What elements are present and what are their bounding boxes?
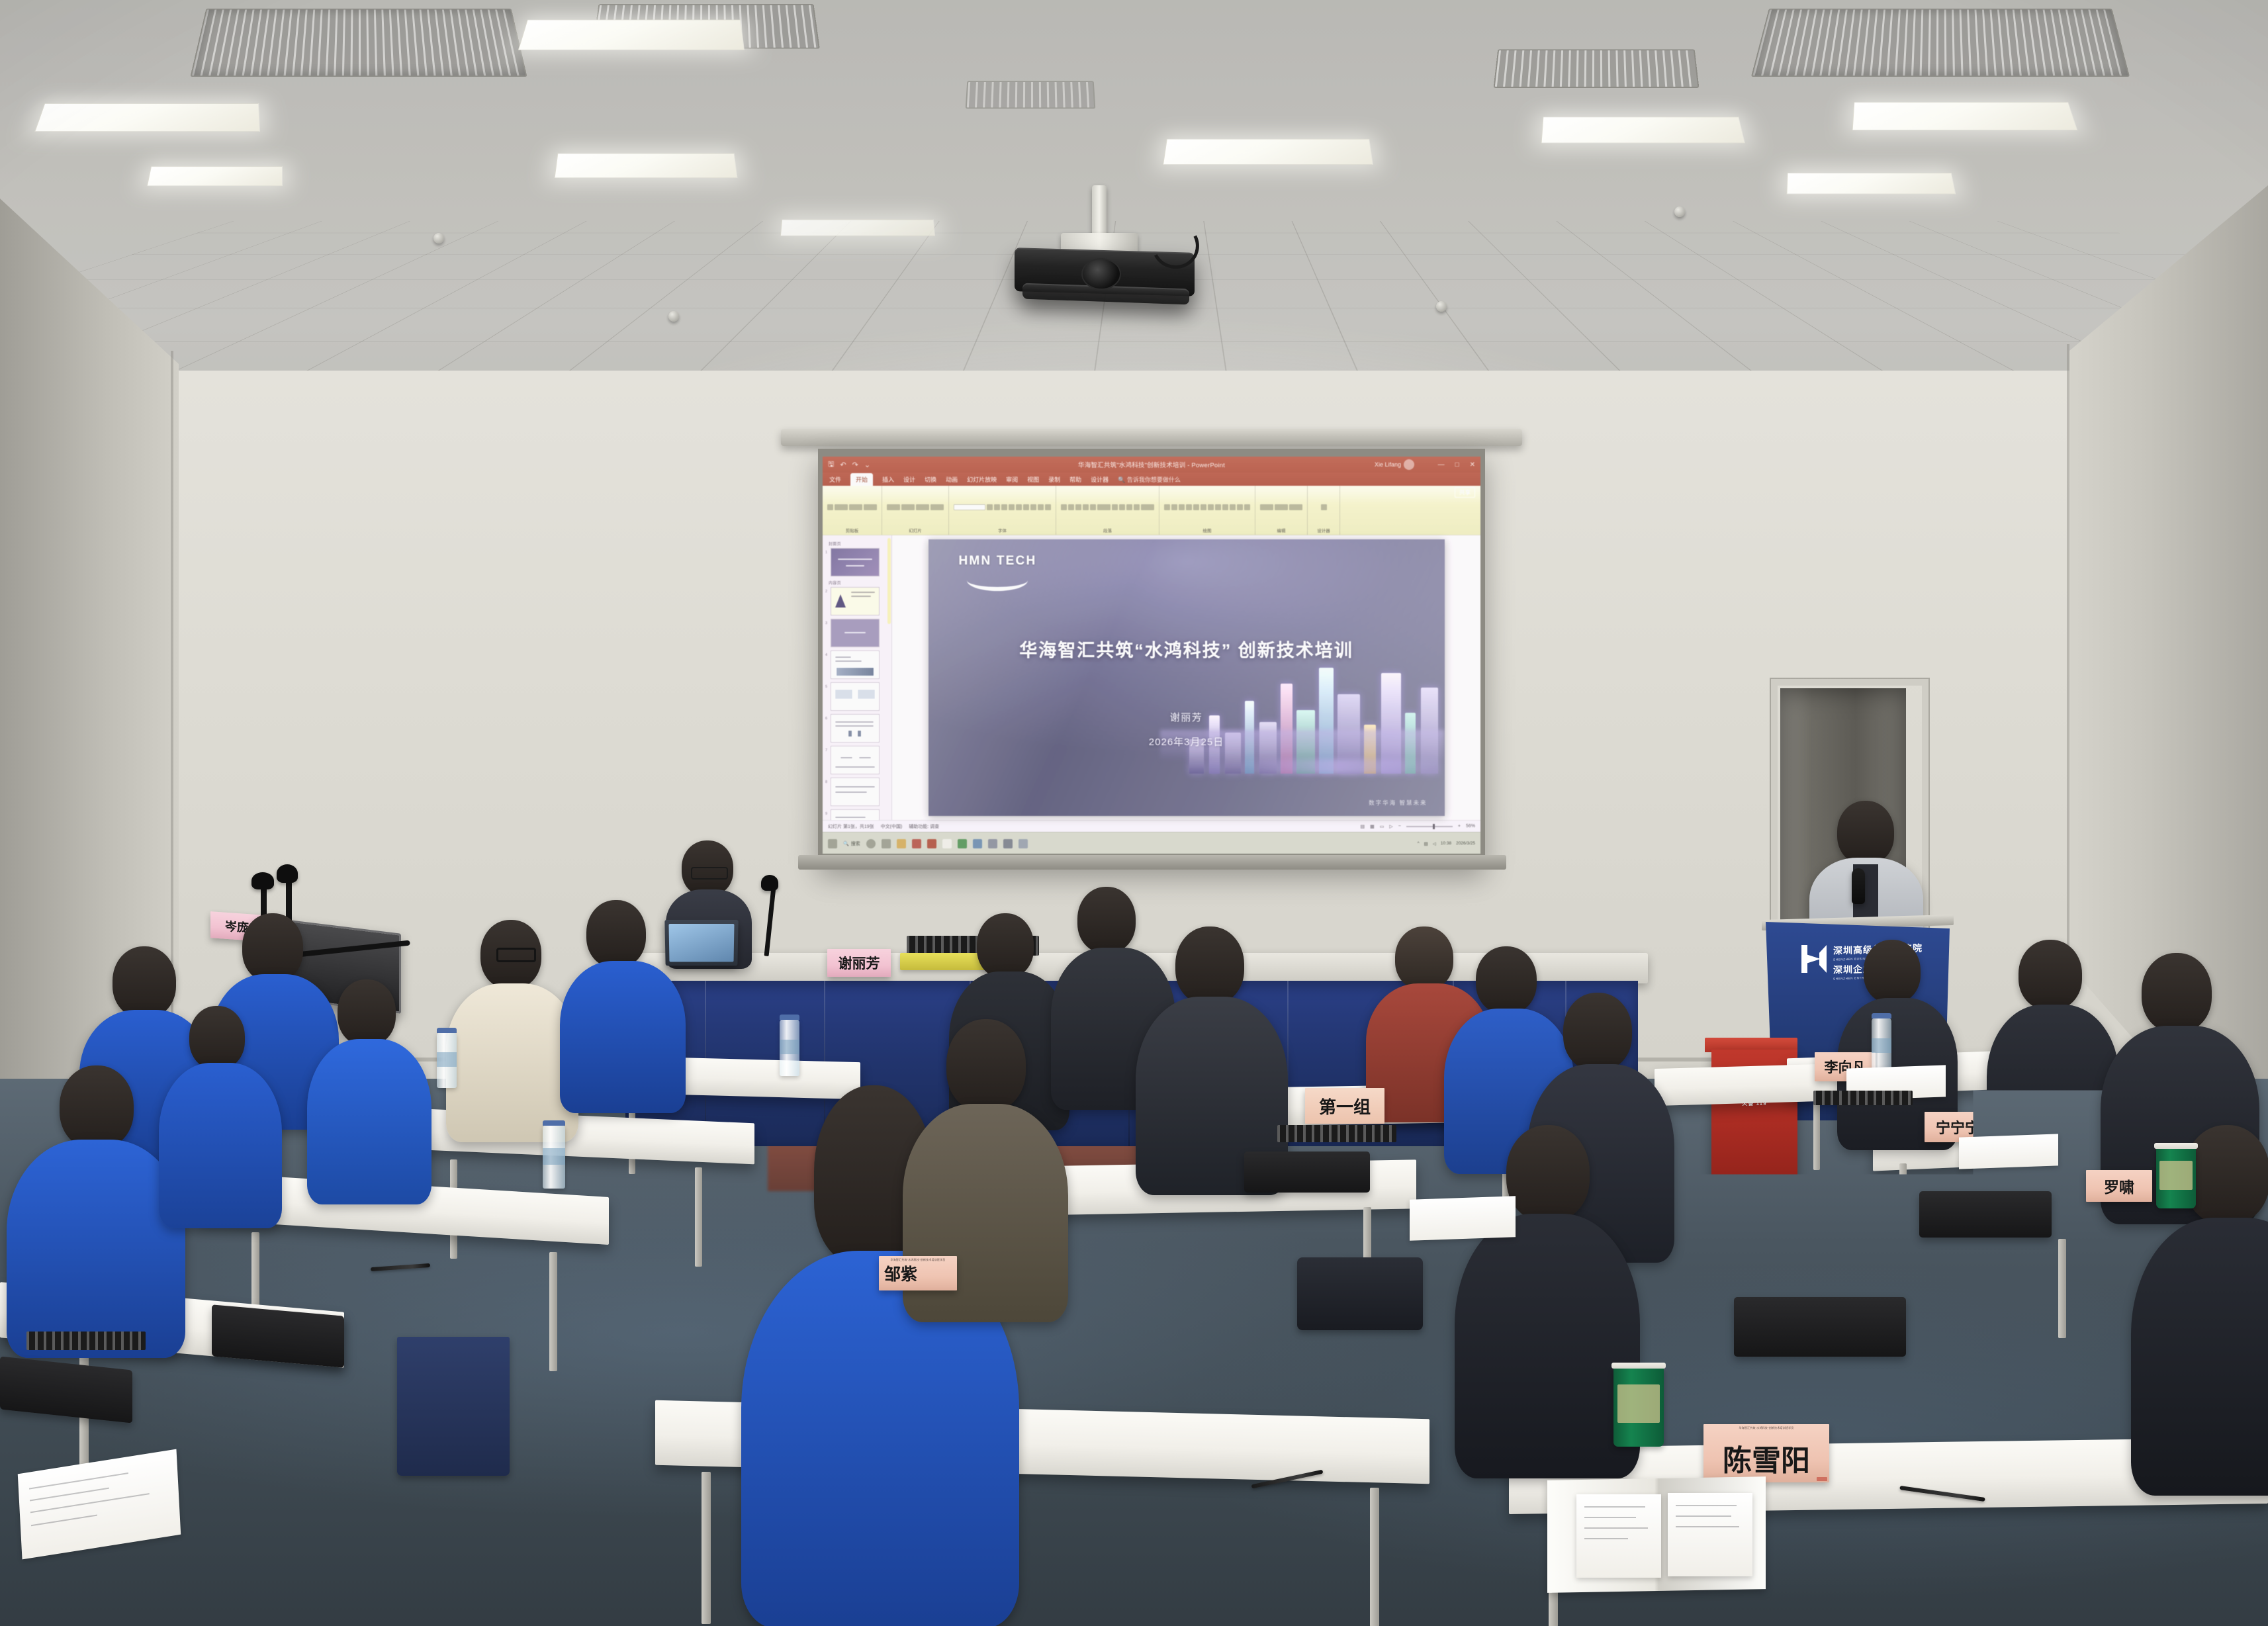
head	[977, 913, 1034, 978]
placard-group: 第一组	[1305, 1088, 1384, 1124]
thumbnail-item[interactable]: 4	[825, 651, 889, 679]
close-icon[interactable]: ✕	[1470, 461, 1475, 469]
text-direction-icon[interactable]	[1097, 504, 1111, 510]
thumbnail-item[interactable]: 7	[825, 746, 889, 774]
view-slideshow-icon[interactable]: ▷	[1389, 824, 1392, 829]
increase-font-icon[interactable]	[994, 504, 1000, 510]
slide-thumbnail[interactable]	[831, 746, 880, 774]
desk-leg	[549, 1252, 557, 1371]
status-slide-counter: 幻灯片 第1张，共19张	[828, 823, 874, 830]
water-bottle	[437, 1032, 457, 1088]
user-name-label: Xie Lifang	[1375, 461, 1401, 468]
thumbnail-number: 3	[825, 619, 829, 625]
layout-icon[interactable]	[901, 504, 915, 510]
tab-home[interactable]: 开始	[850, 473, 873, 486]
thumbnail-number: 4	[825, 651, 829, 657]
slide-thumbnail-pane[interactable]: 封面页 1 内容页 2	[823, 535, 892, 820]
decrease-indent-icon[interactable]	[1075, 504, 1081, 510]
coffee-cup	[1613, 1367, 1664, 1447]
shadow-icon[interactable]	[1030, 504, 1036, 510]
slide-thumbnail[interactable]	[831, 778, 880, 806]
browser-icon[interactable]	[942, 839, 952, 848]
tab-insert[interactable]: 插入	[882, 475, 894, 484]
increase-indent-icon[interactable]	[1083, 504, 1089, 510]
select-icon[interactable]	[1289, 504, 1302, 510]
slide-thumbnail[interactable]	[831, 682, 880, 711]
head	[2019, 940, 2082, 1010]
line-spacing-icon[interactable]	[1090, 504, 1096, 510]
clipboard-icons	[827, 488, 877, 526]
slide-tagline: 数字华海 智慧未来	[1369, 799, 1427, 807]
align-left-icon[interactable]	[1112, 504, 1118, 510]
thumbnail-item[interactable]: 5	[825, 682, 889, 711]
ribbon-group-editing[interactable]: 编辑	[1255, 486, 1308, 535]
start-icon[interactable]	[828, 839, 837, 848]
status-language: 中文(中国)	[881, 823, 903, 830]
thumbnail-item[interactable]: 2	[825, 587, 889, 615]
slide-thumbnail[interactable]	[831, 587, 880, 615]
slide-title: 华海智汇共筑“水鸿科技” 创新技术培训	[929, 636, 1445, 662]
hmn-smile-arc-icon	[967, 570, 1028, 591]
tab-slideshow[interactable]: 幻灯片放映	[967, 475, 997, 484]
sprinkler-head	[1436, 301, 1447, 312]
screen-roller-housing	[781, 429, 1522, 446]
training-room-photo: 🖫 ↶ ↷ ⌄ 华海智汇共筑"水鸿科技"创新技术培训 - PowerPoint …	[0, 0, 2268, 1626]
placard-name: 谢丽芳	[839, 953, 880, 973]
tab-record[interactable]: 录制	[1048, 475, 1060, 484]
chair	[1244, 1152, 1370, 1193]
thumbnail-number: 2	[825, 587, 829, 594]
paste-icon[interactable]	[827, 504, 833, 510]
placard-name: 罗啸	[2104, 1175, 2134, 1197]
thumbnail-number: 1	[825, 548, 829, 555]
font-color-icon[interactable]	[1045, 504, 1051, 510]
view-reading-icon[interactable]: ▭	[1380, 824, 1384, 829]
head	[1395, 926, 1453, 990]
status-accessibility[interactable]: 辅助功能: 调查	[909, 823, 939, 830]
tab-designer[interactable]: 设计器	[1091, 475, 1109, 484]
paragraph-icons	[1061, 488, 1154, 526]
tab-animations[interactable]: 动画	[946, 475, 958, 484]
panel-light	[34, 103, 260, 132]
desk-leg	[702, 1472, 711, 1624]
shape-fill-icon[interactable]	[1230, 504, 1236, 510]
designer-icons	[1321, 488, 1327, 526]
wall-seam	[171, 351, 173, 1059]
panel-light	[780, 220, 935, 236]
papers	[1959, 1134, 2058, 1169]
task-view-icon[interactable]	[882, 839, 891, 848]
handbag	[1297, 1257, 1423, 1330]
ribbon[interactable]: 剪贴板 幻灯片	[823, 486, 1480, 535]
group-label-font: 字体	[998, 527, 1007, 533]
air-vent	[190, 9, 527, 77]
share-button[interactable]: 共享	[1455, 487, 1475, 498]
head	[1837, 801, 1894, 864]
justify-icon[interactable]	[1134, 504, 1140, 510]
bullets-icon[interactable]	[1061, 504, 1067, 510]
projector-lens	[1081, 258, 1121, 290]
placard-presenter: 谢丽芳	[827, 949, 891, 977]
settings-icon[interactable]	[1003, 839, 1013, 848]
desk-power-module	[1813, 1091, 1913, 1105]
shape-curve-icon[interactable]	[1201, 504, 1206, 510]
powerpoint-icon[interactable]	[927, 839, 936, 848]
shape-rect-icon[interactable]	[1164, 504, 1170, 510]
cortana-icon[interactable]	[866, 839, 876, 848]
arrange-icon[interactable]	[1215, 504, 1221, 510]
thumbnail-number: 5	[825, 682, 829, 689]
windows-taskbar[interactable]: 🔍搜索 ^ ▤ ◁ 10:38 2026/3/25	[823, 832, 1480, 854]
microphone-head	[251, 872, 274, 889]
tray-chevron-icon[interactable]: ^	[1418, 841, 1420, 846]
tab-design[interactable]: 设计	[903, 475, 915, 484]
thumbnail-item[interactable]: 6	[825, 714, 889, 743]
placard-logo	[1817, 1477, 1827, 1481]
thumbnail-item[interactable]: 1	[825, 548, 889, 576]
quick-styles-icon[interactable]	[1222, 504, 1228, 510]
group-label-clipboard: 剪贴板	[846, 527, 859, 533]
placard-subtitle: 华海智汇共筑"水鸿科技"创新技术培训班学员	[879, 1258, 957, 1262]
taskbar-search[interactable]: 🔍搜索	[843, 840, 860, 847]
desk-leg	[1899, 1163, 1907, 1253]
zoom-out-icon[interactable]: −	[1398, 824, 1401, 829]
format-painter-icon[interactable]	[864, 504, 877, 510]
panel-light	[555, 154, 738, 178]
papers	[1410, 1196, 1516, 1241]
head	[586, 900, 646, 968]
placard-name: 宁宁宁	[1936, 1116, 1979, 1138]
slide-presenter-name: 谢丽芳	[929, 710, 1445, 724]
ribbon-group-paragraph[interactable]: 段落	[1056, 486, 1159, 535]
microphone-head	[277, 864, 298, 883]
group-label-slides: 幻灯片	[909, 527, 922, 533]
reset-icon[interactable]	[916, 504, 929, 510]
ribbon-tabs[interactable]: 文件 开始 插入 设计 切换 动画 幻灯片放映 审阅 视图 录制 帮助 设计器 …	[823, 473, 1480, 486]
powerpoint-window[interactable]: 🖫 ↶ ↷ ⌄ 华海智汇共筑"水鸿科技"创新技术培训 - PowerPoint …	[823, 457, 1480, 854]
head	[1864, 940, 1921, 1003]
sprinkler-head	[433, 233, 444, 244]
sprinkler-head	[1674, 206, 1685, 217]
section-icon[interactable]	[930, 504, 944, 510]
papers	[1668, 1493, 1752, 1576]
numbering-icon[interactable]	[1068, 504, 1074, 510]
view-normal-icon[interactable]: ▤	[1361, 824, 1365, 829]
zoom-in-icon[interactable]: +	[1458, 824, 1461, 829]
thumbnail-number: 9	[825, 809, 829, 816]
placard-name: 第一组	[1319, 1094, 1371, 1118]
window-controls[interactable]: — □ ✕	[1438, 461, 1475, 469]
slide-thumbnail[interactable]	[831, 651, 880, 679]
shape-arrow-icon[interactable]	[1179, 504, 1185, 510]
slide-thumbnail[interactable]	[831, 619, 880, 647]
font-size-box[interactable]	[987, 504, 993, 510]
head	[2184, 1125, 2268, 1224]
shape-oval-icon[interactable]	[1186, 504, 1192, 510]
tell-me-search[interactable]: 🔍 告诉我你想要做什么	[1118, 475, 1181, 484]
air-vent	[1751, 9, 2130, 77]
head	[1077, 887, 1136, 953]
smartart-icon[interactable]	[1141, 504, 1154, 510]
head	[60, 1065, 134, 1149]
group-label-editing: 编辑	[1277, 527, 1286, 533]
app-icon[interactable]	[1019, 839, 1028, 848]
hmn-tech-logo: HMN TECH	[959, 554, 1037, 591]
shape-triangle-icon[interactable]	[1193, 504, 1199, 510]
handbag	[397, 1337, 510, 1476]
torso	[446, 983, 578, 1142]
shape-brace-icon[interactable]	[1208, 504, 1214, 510]
air-vent	[1494, 49, 1700, 87]
torso	[2131, 1218, 2268, 1496]
ribbon-group-designer[interactable]: 设计器	[1308, 486, 1340, 535]
section-header-cover[interactable]: 封面页	[829, 541, 889, 547]
water-bottle	[780, 1019, 799, 1076]
designer-icon[interactable]	[1321, 504, 1327, 510]
view-sorter-icon[interactable]: ▦	[1370, 824, 1375, 829]
laptop	[664, 920, 738, 966]
ribbon-group-slides[interactable]: 幻灯片	[882, 486, 949, 535]
thumbnail-item[interactable]: 8	[825, 778, 889, 806]
desk-leg	[695, 1167, 702, 1267]
placard-name: 陈雪阳	[1723, 1437, 1810, 1479]
panel-light	[1852, 102, 2078, 130]
cut-icon[interactable]	[835, 504, 848, 510]
clock-date[interactable]: 2026/3/25	[1456, 841, 1475, 846]
ppt-title-bar: 🖫 ↶ ↷ ⌄ 华海智汇共筑"水鸿科技"创新技术培训 - PowerPoint …	[823, 457, 1480, 473]
group-label-designer: 设计器	[1317, 527, 1330, 533]
chair	[476, 1188, 596, 1240]
current-slide[interactable]: HMN TECH 华海智汇共筑“水鸿科技” 创新技术培训 谢丽芳 2026年3月…	[929, 539, 1445, 816]
placard-zou: 华海智汇共筑"水鸿科技"创新技术培训班学员 邹紫	[879, 1256, 957, 1290]
eyeglasses	[496, 948, 536, 962]
torso	[1455, 1214, 1640, 1478]
system-tray[interactable]: ^ ▤ ◁ 10:38 2026/3/25	[1418, 841, 1475, 846]
ribbon-group-clipboard[interactable]: 剪贴板	[823, 486, 882, 535]
laptop-screen	[669, 924, 735, 962]
head	[189, 1006, 245, 1069]
desk-power-module	[476, 1152, 582, 1167]
thumbnail-number: 6	[825, 714, 829, 721]
volume-icon[interactable]: ◁	[1433, 841, 1436, 846]
explorer-icon[interactable]	[897, 839, 906, 848]
panel-light	[518, 20, 745, 50]
placard-chen: 华海智汇共筑"水鸿科技"创新技术培训班学员 陈雪阳	[1703, 1424, 1829, 1482]
chair	[1919, 1191, 2052, 1238]
section-header-content[interactable]: 内容页	[829, 580, 889, 586]
placard-subtitle: 华海智汇共筑"水鸿科技"创新技术培训班学员	[1703, 1426, 1829, 1430]
ppt-status-bar: 幻灯片 第1张，共19张 中文(中国) 辅助功能: 调查 ▤ ▦ ▭ ▷ − +…	[823, 820, 1480, 832]
torso	[159, 1063, 282, 1228]
slide-thumbnail[interactable]	[831, 714, 880, 743]
decrease-font-icon[interactable]	[1001, 504, 1007, 510]
thumbnail-item[interactable]: 3	[825, 619, 889, 647]
eyeglasses	[691, 867, 728, 880]
coffee-cup	[2156, 1148, 2196, 1208]
institute-logo-icon	[1801, 945, 1827, 973]
group-label-paragraph: 段落	[1103, 527, 1112, 533]
find-icon[interactable]	[1260, 504, 1273, 510]
bold-icon[interactable]	[1009, 504, 1015, 510]
head	[242, 913, 303, 982]
handheld-microphone	[1852, 868, 1865, 904]
panel-light	[147, 166, 283, 186]
panel-light	[1541, 117, 1745, 144]
chair	[1734, 1297, 1906, 1357]
tab-transitions[interactable]: 切换	[925, 475, 936, 484]
slide-thumbnail[interactable]	[831, 809, 880, 820]
tab-file[interactable]: 文件	[829, 475, 841, 484]
panel-light	[1786, 173, 1956, 194]
brand-name: HMN TECH	[959, 554, 1037, 568]
head	[1506, 1125, 1590, 1222]
clock-time[interactable]: 10:38	[1441, 841, 1451, 846]
copy-icon[interactable]	[849, 504, 862, 510]
font-icons	[954, 488, 1051, 526]
shape-outline-icon[interactable]	[1237, 504, 1243, 510]
network-icon[interactable]: ▤	[1424, 841, 1428, 846]
air-vent	[966, 81, 1096, 109]
desk-power-module	[26, 1332, 146, 1350]
status-right-group[interactable]: ▤ ▦ ▭ ▷ − + 56%	[1361, 824, 1475, 829]
head	[1563, 993, 1632, 1071]
panel-light	[1163, 139, 1373, 165]
align-center-icon[interactable]	[1119, 504, 1125, 510]
thumbnail-number: 7	[825, 746, 829, 752]
microphone-head	[761, 875, 778, 891]
desk-leg	[1370, 1488, 1379, 1626]
shape-effects-icon[interactable]	[1244, 504, 1250, 510]
tab-review[interactable]: 审阅	[1006, 475, 1018, 484]
torso	[307, 1039, 431, 1204]
head	[113, 946, 176, 1018]
app-icon[interactable]	[988, 839, 997, 848]
torso	[560, 961, 686, 1113]
head	[338, 979, 396, 1046]
slide-thumbnail[interactable]	[831, 548, 880, 576]
underline-icon[interactable]	[1023, 504, 1029, 510]
thumbnail-scrollbar[interactable]	[887, 538, 891, 624]
zoom-slider[interactable]	[1406, 826, 1453, 827]
slides-icons	[887, 488, 944, 526]
papers	[1576, 1494, 1661, 1578]
strikethrough-icon[interactable]	[1038, 504, 1044, 510]
align-right-icon[interactable]	[1126, 504, 1132, 510]
new-slide-icon[interactable]	[887, 504, 900, 510]
head	[946, 1019, 1026, 1112]
desk-power-module	[1277, 1125, 1396, 1142]
ppt-body: 封面页 1 内容页 2	[823, 535, 1480, 820]
ribbon-group-drawing[interactable]: 绘图	[1159, 486, 1255, 535]
replace-icon[interactable]	[1275, 504, 1288, 510]
ribbon-group-font[interactable]: 字体	[949, 486, 1056, 535]
italic-icon[interactable]	[1016, 504, 1022, 510]
slide-date: 2026年3月25日	[929, 735, 1445, 748]
tab-help[interactable]: 帮助	[1069, 475, 1081, 484]
zoom-level-label[interactable]: 56%	[1466, 824, 1475, 829]
minimize-icon[interactable]: —	[1438, 461, 1445, 469]
mail-icon[interactable]	[973, 839, 982, 848]
drawing-icons	[1164, 488, 1250, 526]
head	[1476, 946, 1537, 1014]
screen-bottom-bar	[798, 855, 1506, 870]
font-name-box[interactable]	[954, 504, 985, 510]
placard-name: 邹紫	[884, 1261, 917, 1285]
placard-luo: 罗啸	[2086, 1170, 2152, 1202]
thumbnail-number: 8	[825, 778, 829, 784]
maximize-icon[interactable]: □	[1455, 461, 1459, 469]
editing-icons	[1260, 488, 1302, 526]
head	[2142, 953, 2212, 1032]
slide-stage: HMN TECH 华海智汇共筑“水鸿科技” 创新技术培训 谢丽芳 2026年3月…	[892, 535, 1480, 820]
wechat-icon[interactable]	[958, 839, 967, 848]
app-icon[interactable]	[912, 839, 921, 848]
head	[1175, 926, 1244, 1005]
group-label-drawing: 绘图	[1203, 527, 1212, 533]
thumbnail-item[interactable]: 9	[825, 809, 889, 820]
avatar[interactable]	[1404, 459, 1414, 470]
desk-leg	[2058, 1239, 2066, 1338]
water-bottle	[1872, 1018, 1891, 1075]
shape-line-icon[interactable]	[1171, 504, 1177, 510]
sprinkler-head	[668, 311, 679, 322]
tab-view[interactable]: 视图	[1027, 475, 1039, 484]
